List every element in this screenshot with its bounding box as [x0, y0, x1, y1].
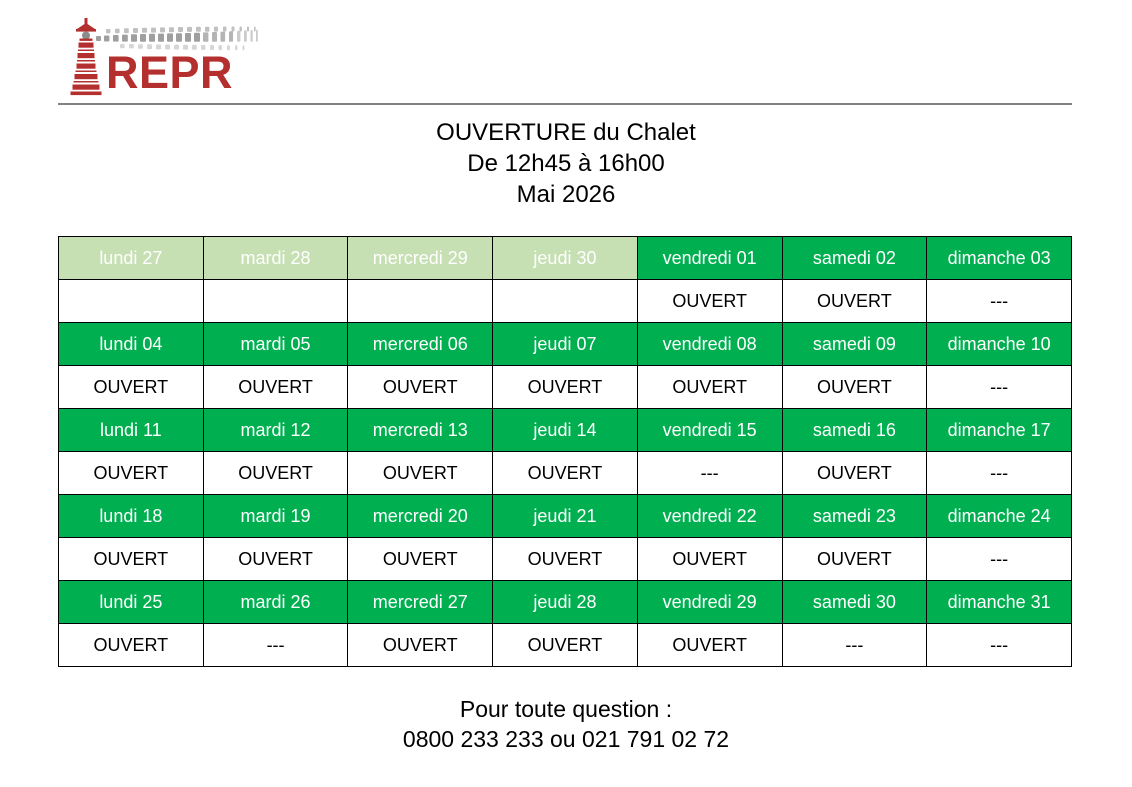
calendar-day-status: OUVERT: [493, 538, 638, 581]
calendar-day-header: mercredi 29: [348, 237, 493, 280]
calendar-day-status: OUVERT: [348, 538, 493, 581]
calendar-day-header: dimanche 03: [927, 237, 1072, 280]
calendar-day-header: lundi 25: [59, 581, 204, 624]
calendar-day-header: vendredi 08: [637, 323, 782, 366]
calendar-day-header: jeudi 14: [493, 409, 638, 452]
calendar-day-header: dimanche 24: [927, 495, 1072, 538]
calendar-day-header: dimanche 17: [927, 409, 1072, 452]
calendar-day-header: lundi 27: [59, 237, 204, 280]
calendar-day-status: OUVERT: [203, 452, 348, 495]
title-line-hours: De 12h45 à 16h00: [0, 148, 1132, 179]
calendar-day-status: ---: [782, 624, 927, 667]
calendar-day-header: mardi 28: [203, 237, 348, 280]
calendar-day-status: ---: [637, 452, 782, 495]
calendar-day-header: samedi 02: [782, 237, 927, 280]
calendar-day-header: samedi 23: [782, 495, 927, 538]
calendar-day-status: OUVERT: [493, 452, 638, 495]
brand-name: REPR: [106, 48, 233, 98]
calendar-day-status: OUVERT: [203, 538, 348, 581]
title-line-opening: OUVERTURE du Chalet: [0, 117, 1132, 148]
calendar-day-header: mercredi 06: [348, 323, 493, 366]
calendar-week-header-row: lundi 18mardi 19mercredi 20jeudi 21vendr…: [59, 495, 1072, 538]
calendar-day-status: OUVERT: [59, 624, 204, 667]
calendar-day-status: OUVERT: [637, 280, 782, 323]
calendar-day-header: jeudi 07: [493, 323, 638, 366]
calendar-day-header: mercredi 20: [348, 495, 493, 538]
calendar-day-header: lundi 11: [59, 409, 204, 452]
opening-hours-calendar: lundi 27mardi 28mercredi 29jeudi 30vendr…: [58, 236, 1072, 667]
calendar-day-status: [348, 280, 493, 323]
page-footer: Pour toute question : 0800 233 233 ou 02…: [0, 694, 1132, 754]
calendar-day-status: [203, 280, 348, 323]
calendar-day-status: OUVERT: [782, 452, 927, 495]
calendar-day-status: ---: [927, 452, 1072, 495]
calendar-day-status: ---: [927, 280, 1072, 323]
calendar-day-status: OUVERT: [637, 538, 782, 581]
calendar-day-header: lundi 04: [59, 323, 204, 366]
calendar-day-status: OUVERT: [637, 624, 782, 667]
calendar-day-header: mardi 19: [203, 495, 348, 538]
calendar-day-header: mardi 26: [203, 581, 348, 624]
calendar-week-status-row: OUVERTOUVERTOUVERTOUVERT---OUVERT---: [59, 452, 1072, 495]
calendar-day-status: OUVERT: [59, 538, 204, 581]
calendar-day-header: jeudi 21: [493, 495, 638, 538]
calendar-week-status-row: OUVERTOUVERT---: [59, 280, 1072, 323]
title-line-month: Mai 2026: [0, 179, 1132, 210]
calendar-day-header: mercredi 27: [348, 581, 493, 624]
calendar-container: lundi 27mardi 28mercredi 29jeudi 30vendr…: [58, 236, 1072, 667]
calendar-day-header: jeudi 30: [493, 237, 638, 280]
calendar-day-header: vendredi 29: [637, 581, 782, 624]
footer-question-label: Pour toute question :: [0, 694, 1132, 724]
calendar-day-header: dimanche 10: [927, 323, 1072, 366]
calendar-day-header: vendredi 15: [637, 409, 782, 452]
calendar-day-status: OUVERT: [348, 452, 493, 495]
header-divider: [58, 103, 1072, 105]
calendar-day-status: ---: [927, 538, 1072, 581]
calendar-day-header: vendredi 01: [637, 237, 782, 280]
calendar-day-header: samedi 16: [782, 409, 927, 452]
calendar-week-header-row: lundi 27mardi 28mercredi 29jeudi 30vendr…: [59, 237, 1072, 280]
calendar-day-status: OUVERT: [348, 624, 493, 667]
page-title: OUVERTURE du Chalet De 12h45 à 16h00 Mai…: [0, 117, 1132, 210]
calendar-week-status-row: OUVERT---OUVERTOUVERTOUVERT------: [59, 624, 1072, 667]
calendar-day-status: [59, 280, 204, 323]
calendar-day-status: ---: [927, 624, 1072, 667]
calendar-week-status-row: OUVERTOUVERTOUVERTOUVERTOUVERTOUVERT---: [59, 538, 1072, 581]
calendar-day-header: dimanche 31: [927, 581, 1072, 624]
calendar-day-header: mercredi 13: [348, 409, 493, 452]
calendar-day-header: vendredi 22: [637, 495, 782, 538]
calendar-day-header: lundi 18: [59, 495, 204, 538]
calendar-day-status: OUVERT: [59, 366, 204, 409]
footer-phone-numbers: 0800 233 233 ou 021 791 02 72: [0, 724, 1132, 754]
calendar-week-header-row: lundi 25mardi 26mercredi 27jeudi 28vendr…: [59, 581, 1072, 624]
calendar-day-status: OUVERT: [637, 366, 782, 409]
calendar-day-status: OUVERT: [59, 452, 204, 495]
calendar-week-header-row: lundi 04mardi 05mercredi 06jeudi 07vendr…: [59, 323, 1072, 366]
calendar-day-status: OUVERT: [348, 366, 493, 409]
calendar-body: lundi 27mardi 28mercredi 29jeudi 30vendr…: [59, 237, 1072, 667]
calendar-week-header-row: lundi 11mardi 12mercredi 13jeudi 14vendr…: [59, 409, 1072, 452]
calendar-day-status: OUVERT: [203, 366, 348, 409]
page-header: REPR: [0, 0, 1132, 112]
calendar-day-status: OUVERT: [782, 366, 927, 409]
calendar-day-status: ---: [927, 366, 1072, 409]
calendar-day-header: jeudi 28: [493, 581, 638, 624]
calendar-day-header: samedi 09: [782, 323, 927, 366]
calendar-day-status: OUVERT: [493, 624, 638, 667]
calendar-day-header: mardi 12: [203, 409, 348, 452]
calendar-day-status: OUVERT: [782, 538, 927, 581]
calendar-day-status: ---: [203, 624, 348, 667]
calendar-day-status: OUVERT: [493, 366, 638, 409]
calendar-day-status: OUVERT: [782, 280, 927, 323]
calendar-day-header: mardi 05: [203, 323, 348, 366]
brand-logo: REPR: [58, 12, 263, 96]
calendar-day-status: [493, 280, 638, 323]
calendar-day-header: samedi 30: [782, 581, 927, 624]
calendar-week-status-row: OUVERTOUVERTOUVERTOUVERTOUVERTOUVERT---: [59, 366, 1072, 409]
